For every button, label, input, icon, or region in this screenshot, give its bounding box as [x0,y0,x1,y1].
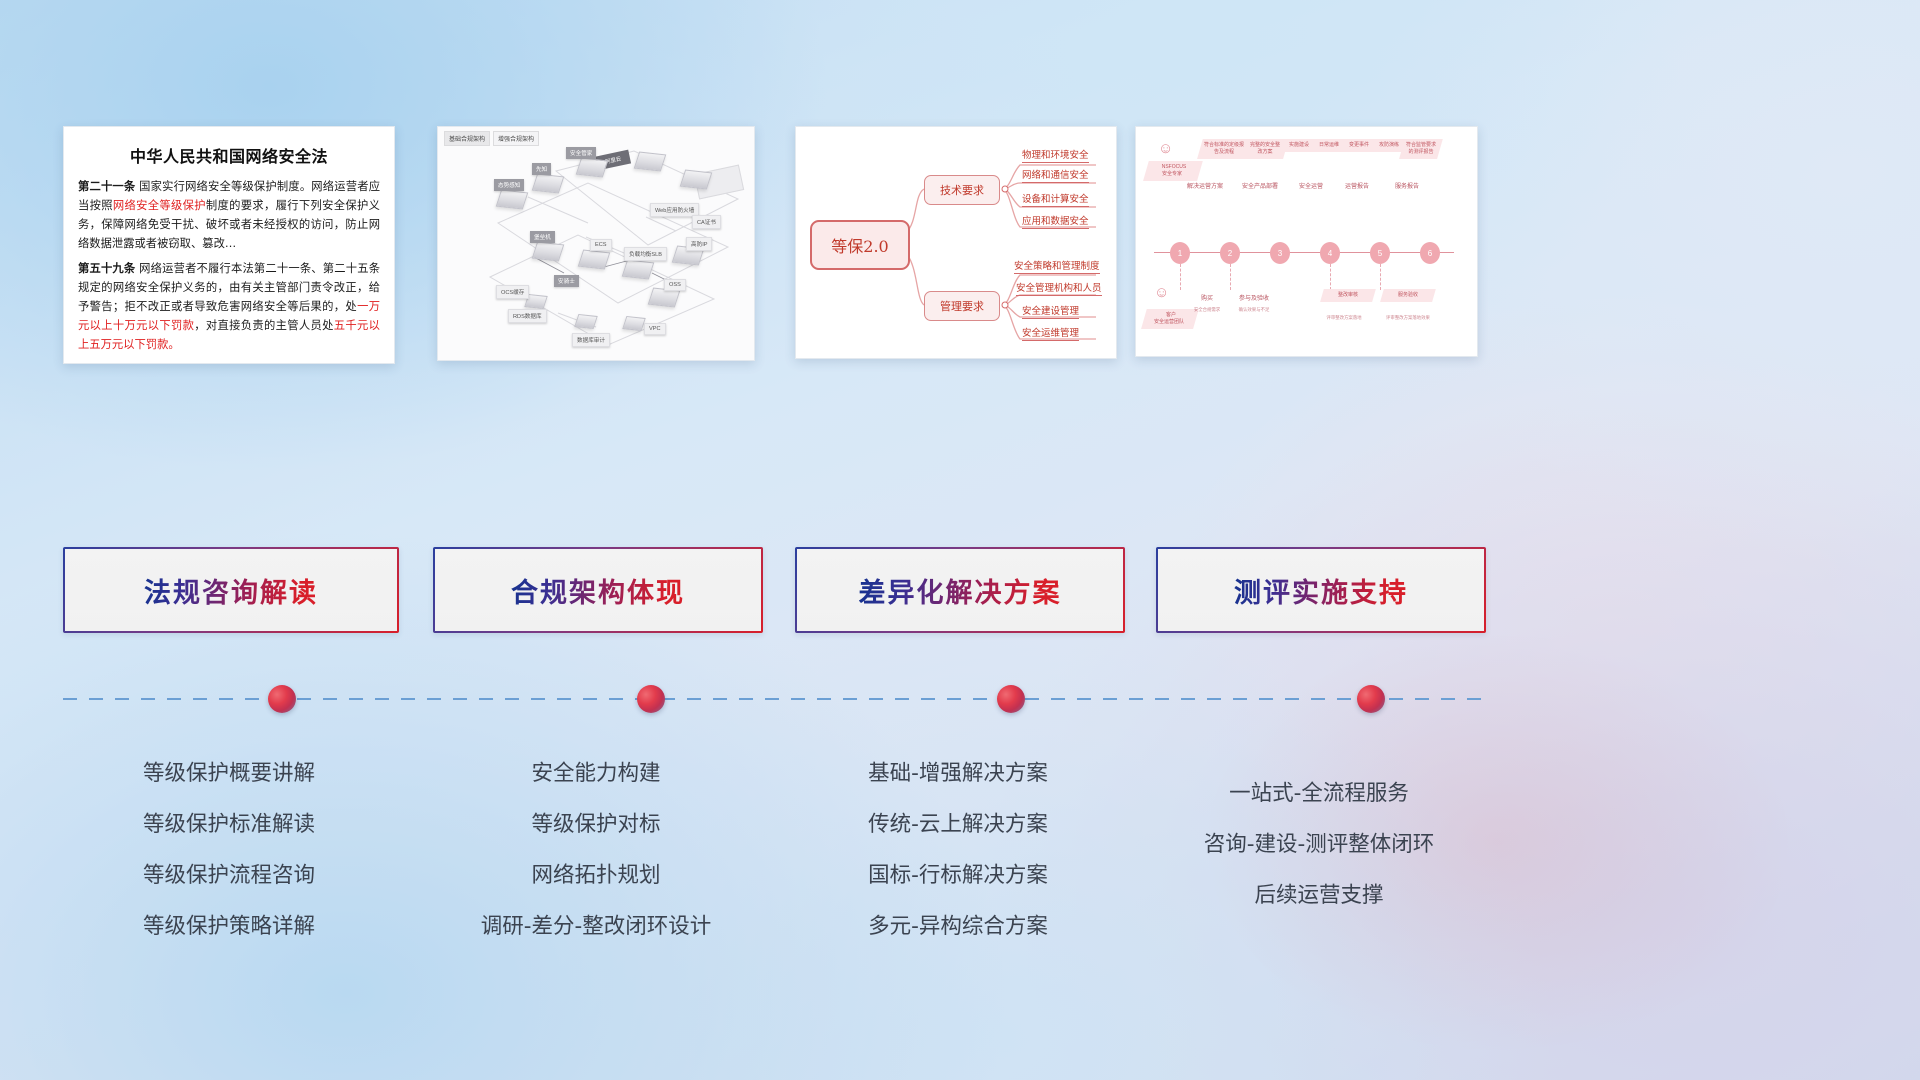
node-shape [622,316,646,331]
pill-compliance-architecture[interactable]: 合规架构体现 [433,547,763,633]
node-slb: 负载均衡SLB [624,247,667,261]
list-item: 多元-异构综合方案 [795,901,1121,952]
list-column-2: 安全能力构建 等级保护对标 网络拓扑规划 调研-差分-整改闭环设计 [433,748,759,952]
mindmap-leaf: 物理和环境安全 [1022,147,1089,163]
mindmap-root-node: 等保2.0 [810,220,910,270]
bottom-tag-label: 服务验收 [1386,292,1430,299]
node-shape [532,174,565,194]
article-21-highlight: 网络安全等级保护 [113,199,206,212]
mindmap-leaf: 安全策略和管理制度 [1014,258,1100,274]
list-item: 调研-差分-整改闭环设计 [433,901,759,952]
node-security-butler: 安全管家 [566,147,596,159]
list-item: 等级保护策略详解 [63,901,395,952]
node-shape [680,170,713,190]
step-number: 1 [1170,242,1190,264]
pill-label: 法规咨询解读 [144,571,318,610]
top-tag: 符合监管要求的测评报告 [1399,139,1443,159]
node-anqishi: 安骑士 [554,275,579,287]
dashed-timeline [63,698,1483,700]
top-tag-label: 完整的安全整改方案 [1248,142,1282,156]
badge-nsfocus-expert: NSFOCUS 安全专家 [1143,161,1203,181]
expert-person-icon: ☺ [1158,141,1173,156]
node-shape [634,152,667,172]
step-connector [1180,264,1182,290]
node-database-audit: 数据库审计 [572,333,610,347]
list-column-4: 一站式-全流程服务 咨询-建设-测评整体闭环 后续运营支撑 [1156,768,1482,921]
node-shape [622,260,655,280]
step-connector [1380,264,1382,290]
mindmap-leaf: 应用和数据安全 [1022,213,1089,229]
node-oss: OSS [664,279,686,291]
list-item: 网络拓扑规划 [433,850,759,901]
node-shape [532,242,565,262]
step-number: 5 [1370,242,1390,264]
badge-nsfocus-line1: NSFOCUS [1151,164,1197,171]
mindmap-leaf: 安全管理机构和人员 [1016,280,1102,296]
step-number: 4 [1320,242,1340,264]
node-shape [574,314,598,329]
top-tag-label: 日常运维 [1316,142,1342,149]
timeline-dot-2 [637,685,665,713]
list-item: 安全能力构建 [433,748,759,799]
badge-customer-line2: 安全运营团队 [1147,319,1191,326]
bottom-tag-sub: 安全合规需求 [1184,307,1230,313]
list-item: 咨询-建设-测评整体闭环 [1156,819,1482,870]
mindmap-leaf: 安全建设管理 [1022,303,1079,319]
mindmap-leaf: 网络和通信安全 [1022,167,1089,183]
bottom-tag-sub: 评审整改方案落地 [1312,315,1376,321]
node-shape [576,158,609,178]
card-cloud-architecture: 基础合规架构 增强合规架构 阿里云 [437,126,755,361]
mindmap: 等保2.0 技术要求 管理要求 物理和环境安全 网络和通信安全 设备和计算安全 … [796,127,1116,358]
list-item: 等级保护流程咨询 [63,850,395,901]
bottom-tag: 服务验收 [1380,289,1436,302]
step-number: 6 [1420,242,1440,264]
list-column-3: 基础-增强解决方案 传统-云上解决方案 国标-行标解决方案 多元-异构综合方案 [795,748,1121,952]
law-title: 中华人民共和国网络安全法 [78,143,380,167]
list-column-1: 等级保护概要讲解 等级保护标准解读 等级保护流程咨询 等级保护策略详解 [63,748,395,952]
top-tag-label: 符合标准的定级报告及流程 [1204,142,1244,156]
timeline-dot-4 [1357,685,1385,713]
list-item: 等级保护对标 [433,799,759,850]
pill-assessment-support[interactable]: 测评实施支持 [1156,547,1486,633]
node-bastion-host: 堡垒机 [530,231,555,243]
timeline-rail [1154,252,1454,253]
step-connector [1330,264,1332,290]
law-article-59: 第五十九条 网络运营者不履行本法第二十一条、第二十五条规定的网络安全保护义务的，… [78,259,380,354]
customer-person-icon: ☺ [1154,285,1169,300]
pill-row: 法规咨询解读 合规架构体现 差异化解决方案 测评实施支持 [0,547,1920,635]
card-nsfocus-process: ☺ NSFOCUS 安全专家 符合标准的定级报告及流程 完整的安全整改方案 实施… [1135,126,1478,357]
list-item: 基础-增强解决方案 [795,748,1121,799]
top-tag-label: 实施建设 [1286,142,1312,149]
badge-customer-line1: 客户 [1149,312,1193,319]
step-number: 2 [1220,242,1240,264]
step-number: 3 [1270,242,1290,264]
pill-regulation-consulting[interactable]: 法规咨询解读 [63,547,399,633]
law-text-block: 中华人民共和国网络安全法 第二十一条 国家实行网络安全等级保护制度。网络运营者应… [64,127,394,363]
nsfocus-timeline: ☺ NSFOCUS 安全专家 符合标准的定级报告及流程 完整的安全整改方案 实施… [1136,127,1477,356]
timeline-dot-1 [268,685,296,713]
node-ecs: ECS [590,239,612,251]
pill-differentiated-solution[interactable]: 差异化解决方案 [795,547,1125,633]
node-anti-ddos: 高防IP [686,237,712,251]
article-21-label: 第二十一条 [78,180,135,193]
card-mindmap-dengbao: 等保2.0 技术要求 管理要求 物理和环境安全 网络和通信安全 设备和计算安全 … [795,126,1117,359]
top-tag-label: 变更事件 [1346,142,1372,149]
mindmap-leaf: 设备和计算安全 [1022,191,1089,207]
top-tag-label: 攻防演练 [1376,142,1402,149]
node-xianzhi: 先知 [532,163,551,175]
node-shape [578,250,611,270]
law-article-21: 第二十一条 国家实行网络安全等级保护制度。网络运营者应当按照网络安全等级保护制度… [78,177,380,253]
bottom-tag-label: 整改审核 [1326,292,1370,299]
bottom-tag-label: 参与及验收 [1232,293,1276,302]
bottom-tag-sub: 确认效果与不足 [1228,307,1280,313]
pill-label: 合规架构体现 [511,571,685,610]
mindmap-branch-technical: 技术要求 [924,175,1000,205]
step-label: 安全产品部署 [1236,181,1284,190]
node-shape [496,190,529,210]
list-item: 国标-行标解决方案 [795,850,1121,901]
step-label: 安全运营 [1292,181,1330,190]
list-item: 一站式-全流程服务 [1156,768,1482,819]
cards-row: 中华人民共和国网络安全法 第二十一条 国家实行网络安全等级保护制度。网络运营者应… [0,126,1920,366]
article-59-label: 第五十九条 [78,262,135,275]
node-vpc: VPC [644,323,666,335]
article-59-text-b: ，对直接负责的主管人员处 [194,319,334,332]
step-label: 服务报告 [1388,181,1426,190]
mindmap-leaf: 安全运维管理 [1022,325,1079,341]
list-item: 传统-云上解决方案 [795,799,1121,850]
node-ca-certificate: CA证书 [692,215,721,229]
bottom-lists: 等级保护概要讲解 等级保护标准解读 等级保护流程咨询 等级保护策略详解 安全能力… [0,748,1920,978]
card-cybersecurity-law: 中华人民共和国网络安全法 第二十一条 国家实行网络安全等级保护制度。网络运营者应… [63,126,395,364]
list-item: 后续运营支撑 [1156,870,1482,921]
badge-nsfocus-line2: 安全专家 [1149,171,1195,178]
bottom-tag: 整改审核 [1320,289,1376,302]
node-situational-awareness: 态势感知 [494,179,524,191]
list-item: 等级保护标准解读 [63,799,395,850]
mindmap-branch-management: 管理要求 [924,291,1000,321]
timeline-dot-3 [997,685,1025,713]
pill-label: 差异化解决方案 [859,571,1062,610]
architecture-diagram: 基础合规架构 增强合规架构 阿里云 [438,127,754,360]
node-ocs-cache: OCS缓存 [496,285,529,299]
step-label: 解决运营方案 [1180,181,1230,190]
step-connector [1230,264,1232,290]
bottom-tag-sub: 评审整改方案落地效果 [1374,315,1442,321]
list-item: 等级保护概要讲解 [63,748,395,799]
step-label: 运营报告 [1338,181,1376,190]
pill-label: 测评实施支持 [1234,571,1408,610]
node-rds-database: RDS数据库 [508,309,547,323]
bottom-tag-label: 购买 [1192,293,1222,302]
top-tag-label: 符合监管要求的测评报告 [1406,142,1436,156]
